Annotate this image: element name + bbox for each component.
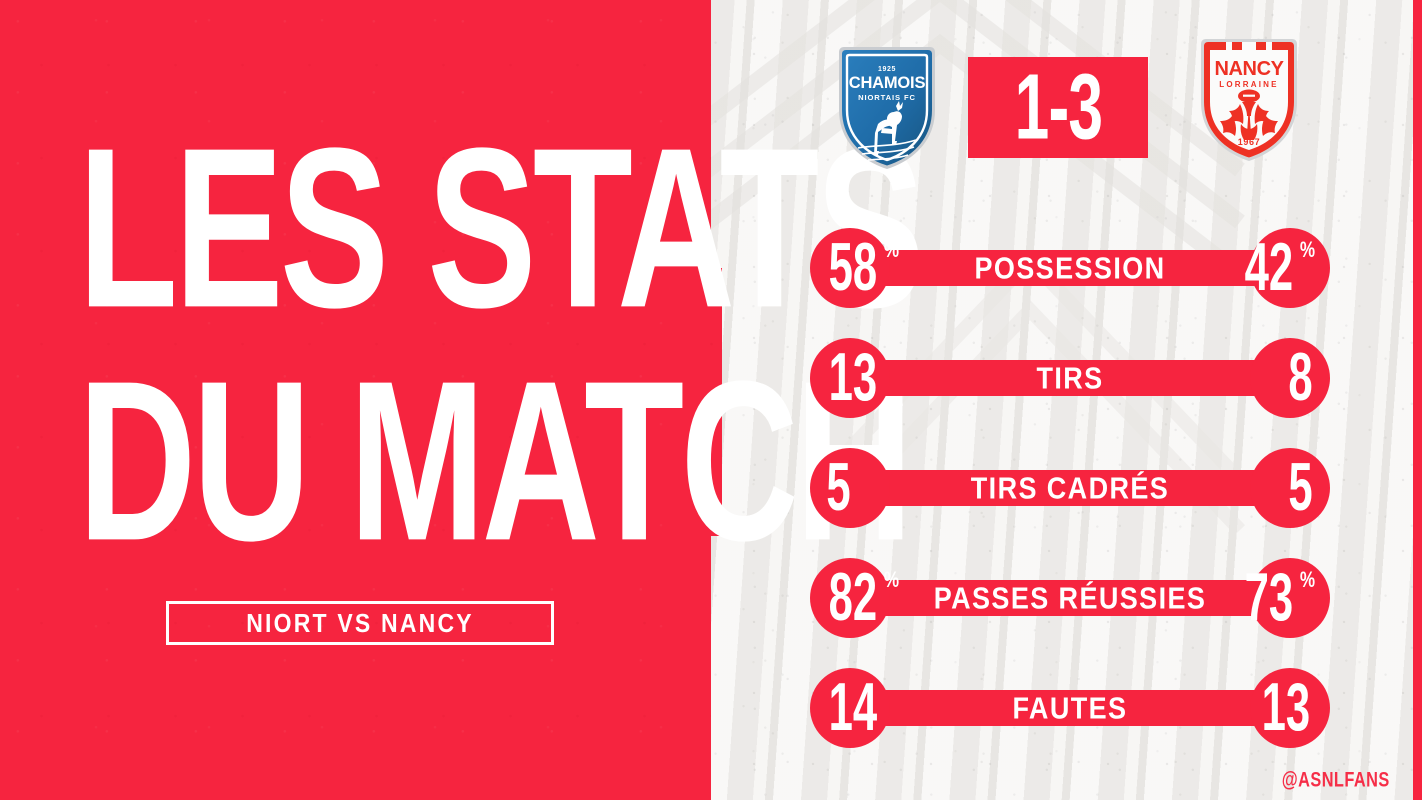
headline-line-1: LES STATS xyxy=(78,140,630,318)
stat-value-away-unit: % xyxy=(1300,569,1315,591)
svg-text:LORRAINE: LORRAINE xyxy=(1219,80,1278,89)
stat-value-away-number: 8 xyxy=(1288,344,1312,412)
stat-value-away-number: 42 xyxy=(1245,234,1294,302)
stat-label: TIRS xyxy=(900,357,1240,398)
svg-text:NANCY: NANCY xyxy=(1214,58,1284,80)
stat-value-away-number: 73 xyxy=(1245,564,1294,632)
headline-line-2: DU MATCH xyxy=(78,373,630,551)
chamois-niortais-crest-icon: 1925 CHAMOIS NIORTAIS FC xyxy=(834,44,940,172)
stats-list: 58% POSSESSION 42% 13 TIRS 8 5 xyxy=(810,228,1330,748)
stat-label: TIRS CADRÉS xyxy=(900,467,1240,508)
score-label: 1-3 xyxy=(1014,61,1102,154)
stat-row: 5 TIRS CADRÉS 5 xyxy=(810,448,1330,528)
stat-value-home-number: 82 xyxy=(829,564,878,632)
watermark: @ASNLFANS xyxy=(1281,769,1389,794)
score-box: 1-3 xyxy=(968,57,1148,158)
stat-row: 82% PASSES RÉUSSIES 73% xyxy=(810,558,1330,638)
matchup-subtitle-label: NIORT VS NANCY xyxy=(246,608,474,638)
stat-row: 58% POSSESSION 42% xyxy=(810,228,1330,308)
nancy-lorraine-crest-icon: NANCY LORRAINE 1967 xyxy=(1196,36,1302,164)
stat-value-home-unit: % xyxy=(884,569,899,591)
stat-row: 13 TIRS 8 xyxy=(810,338,1330,418)
svg-text:1967: 1967 xyxy=(1238,137,1260,147)
stat-value-home-number: 58 xyxy=(829,234,878,302)
svg-text:CHAMOIS: CHAMOIS xyxy=(849,74,926,92)
stat-value-home-number: 14 xyxy=(829,674,878,742)
stat-label: POSSESSION xyxy=(900,247,1240,288)
svg-text:NIORTAIS FC: NIORTAIS FC xyxy=(858,93,916,102)
stat-row: 14 FAUTES 13 xyxy=(810,668,1330,748)
svg-text:1925: 1925 xyxy=(878,66,896,73)
matchup-subtitle-box: NIORT VS NANCY xyxy=(166,601,554,645)
stat-value-away-number: 13 xyxy=(1262,674,1311,742)
page-title: LES STATS DU MATCH xyxy=(78,140,678,512)
stat-value-home-number: 5 xyxy=(826,454,850,522)
stat-value-home-number: 13 xyxy=(829,344,878,412)
stat-value-home-unit: % xyxy=(884,239,899,261)
match-stats-graphic: LES STATS DU MATCH NIORT VS NANCY 1925 C… xyxy=(0,0,1422,800)
stat-label: FAUTES xyxy=(900,687,1240,728)
stat-value-away-unit: % xyxy=(1300,239,1315,261)
stat-value-away-number: 5 xyxy=(1288,454,1312,522)
stat-label: PASSES RÉUSSIES xyxy=(900,577,1240,618)
right-edge-red-accent xyxy=(1413,0,1422,800)
